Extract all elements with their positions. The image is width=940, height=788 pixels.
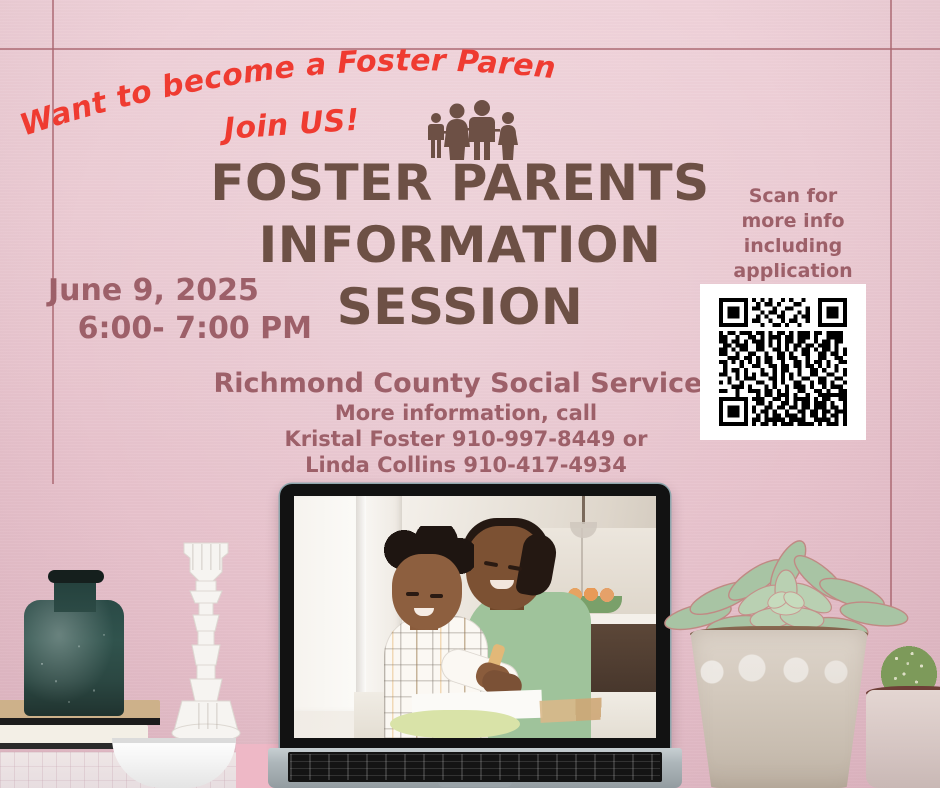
- scan-line: application: [718, 259, 868, 284]
- contact-line: Kristal Foster 910-997-8449 or: [186, 426, 746, 452]
- qr-code-icon[interactable]: [715, 294, 851, 430]
- event-date: June 9, 2025: [48, 272, 318, 310]
- scan-line: including: [718, 234, 868, 259]
- contact-info: More information, call Kristal Foster 91…: [186, 400, 746, 478]
- qr-code-card[interactable]: [700, 284, 866, 440]
- frame-line-vertical-left: [52, 0, 54, 484]
- photo-child-eye-left: [406, 592, 419, 596]
- white-candlestick: [168, 535, 244, 750]
- frame-line-vertical-right: [890, 0, 892, 618]
- bottle-lip: [48, 570, 104, 583]
- teal-glass-bottle: [24, 566, 124, 716]
- photo-pendant-cord: [582, 496, 585, 524]
- photo-child-eye-right: [430, 594, 443, 598]
- cactus-pot: [866, 690, 940, 788]
- event-datetime: June 9, 2025 6:00- 7:00 PM: [48, 272, 318, 348]
- scan-line: Scan for: [718, 184, 868, 209]
- photo-child-head: [392, 554, 462, 630]
- laptop-lid: [280, 484, 670, 752]
- laptop: [268, 484, 682, 788]
- laptop-screen: [294, 496, 656, 738]
- photo-green-plate: [390, 710, 520, 738]
- title-line-1: FOSTER PARENTS: [200, 152, 720, 214]
- succulent-pot-lace-pattern: [694, 644, 864, 690]
- organization-name: Richmond County Social Services: [186, 367, 746, 400]
- keyboard-keys: [290, 754, 660, 780]
- photo-mother-and-child: [294, 496, 656, 738]
- event-time: 6:00- 7:00 PM: [48, 310, 318, 348]
- laptop-trackpad-notch: [438, 782, 512, 787]
- scan-line: more info: [718, 209, 868, 234]
- frame-line-horizontal: [0, 48, 940, 50]
- bottle-speckles: [24, 600, 124, 716]
- contact-line: Linda Collins 910-417-4934: [186, 452, 746, 478]
- scan-instructions: Scan for more info including application: [718, 184, 868, 284]
- laptop-keyboard: [288, 752, 662, 782]
- title-line-2: INFORMATION: [200, 214, 720, 276]
- flyer-poster: Want to become a Foster Parent? Join US!: [0, 0, 940, 788]
- contact-line: More information, call: [186, 400, 746, 426]
- family-silhouette-icon: [424, 98, 524, 160]
- book-top-spine: [0, 718, 160, 725]
